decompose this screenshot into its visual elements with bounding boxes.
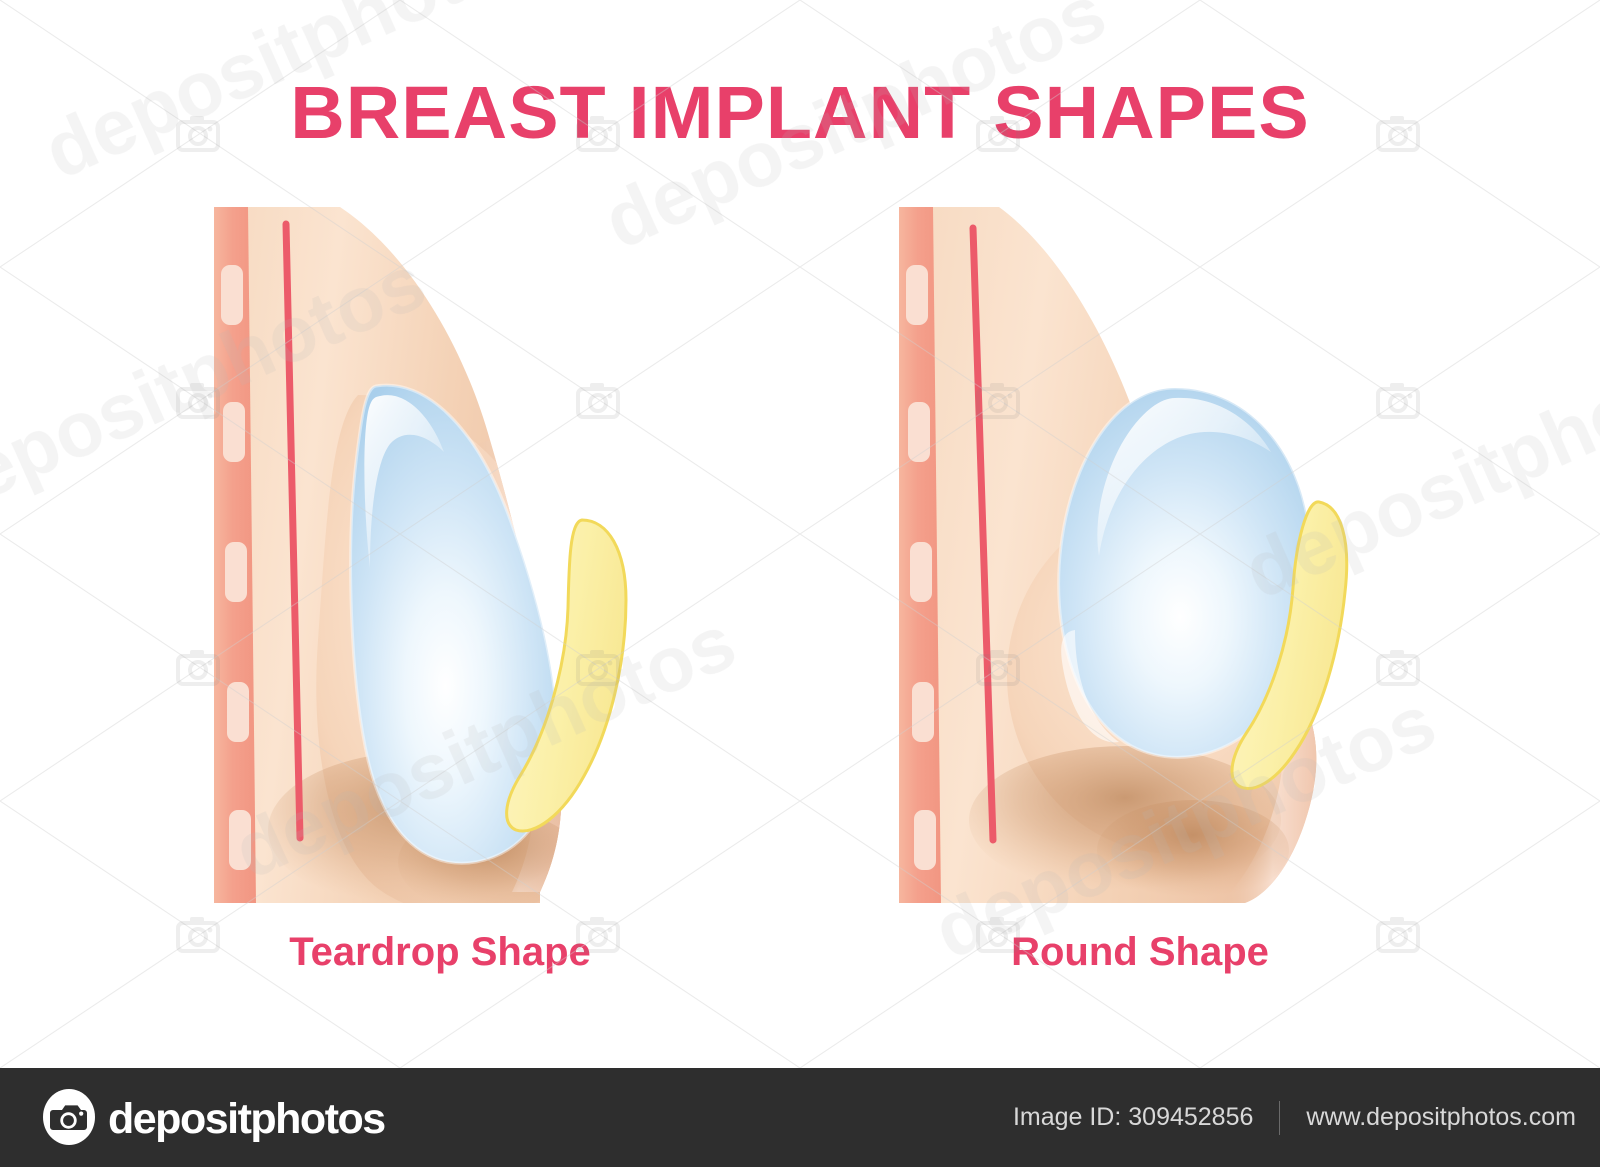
- footer-meta-group: Image ID: 309452856 www.depositphotos.co…: [1013, 1068, 1576, 1167]
- depositphotos-logo[interactable]: depositphotos: [40, 1088, 385, 1146]
- footer-bar: depositphotos Image ID: 309452856 www.de…: [0, 1068, 1600, 1167]
- inframammary-fold-shadow-inner: [1097, 800, 1289, 900]
- intercostal-space: [221, 265, 243, 325]
- illustration-canvas: BREAST IMPLANT SHAPES: [0, 0, 1600, 1167]
- intercostal-space: [229, 810, 251, 870]
- intercostal-space: [912, 682, 934, 742]
- intercostal-space: [910, 542, 932, 602]
- intercostal-space: [223, 402, 245, 462]
- page-title: BREAST IMPLANT SHAPES: [0, 76, 1600, 150]
- intercostal-space: [906, 265, 928, 325]
- caption-round-shape: Round Shape: [870, 930, 1410, 975]
- intercostal-space: [227, 682, 249, 742]
- intercostal-space: [908, 402, 930, 462]
- figure-round-illustration: [875, 190, 1395, 920]
- image-id-label: Image ID: 309452856: [1013, 1103, 1279, 1132]
- website-url[interactable]: www.depositphotos.com: [1280, 1103, 1576, 1132]
- intercostal-space: [225, 542, 247, 602]
- logo-wordmark: depositphotos: [108, 1098, 385, 1141]
- figure-teardrop-illustration: [190, 190, 710, 920]
- caption-teardrop-shape: Teardrop Shape: [170, 930, 710, 975]
- intercostal-space: [914, 810, 936, 870]
- camera-icon: [40, 1088, 98, 1146]
